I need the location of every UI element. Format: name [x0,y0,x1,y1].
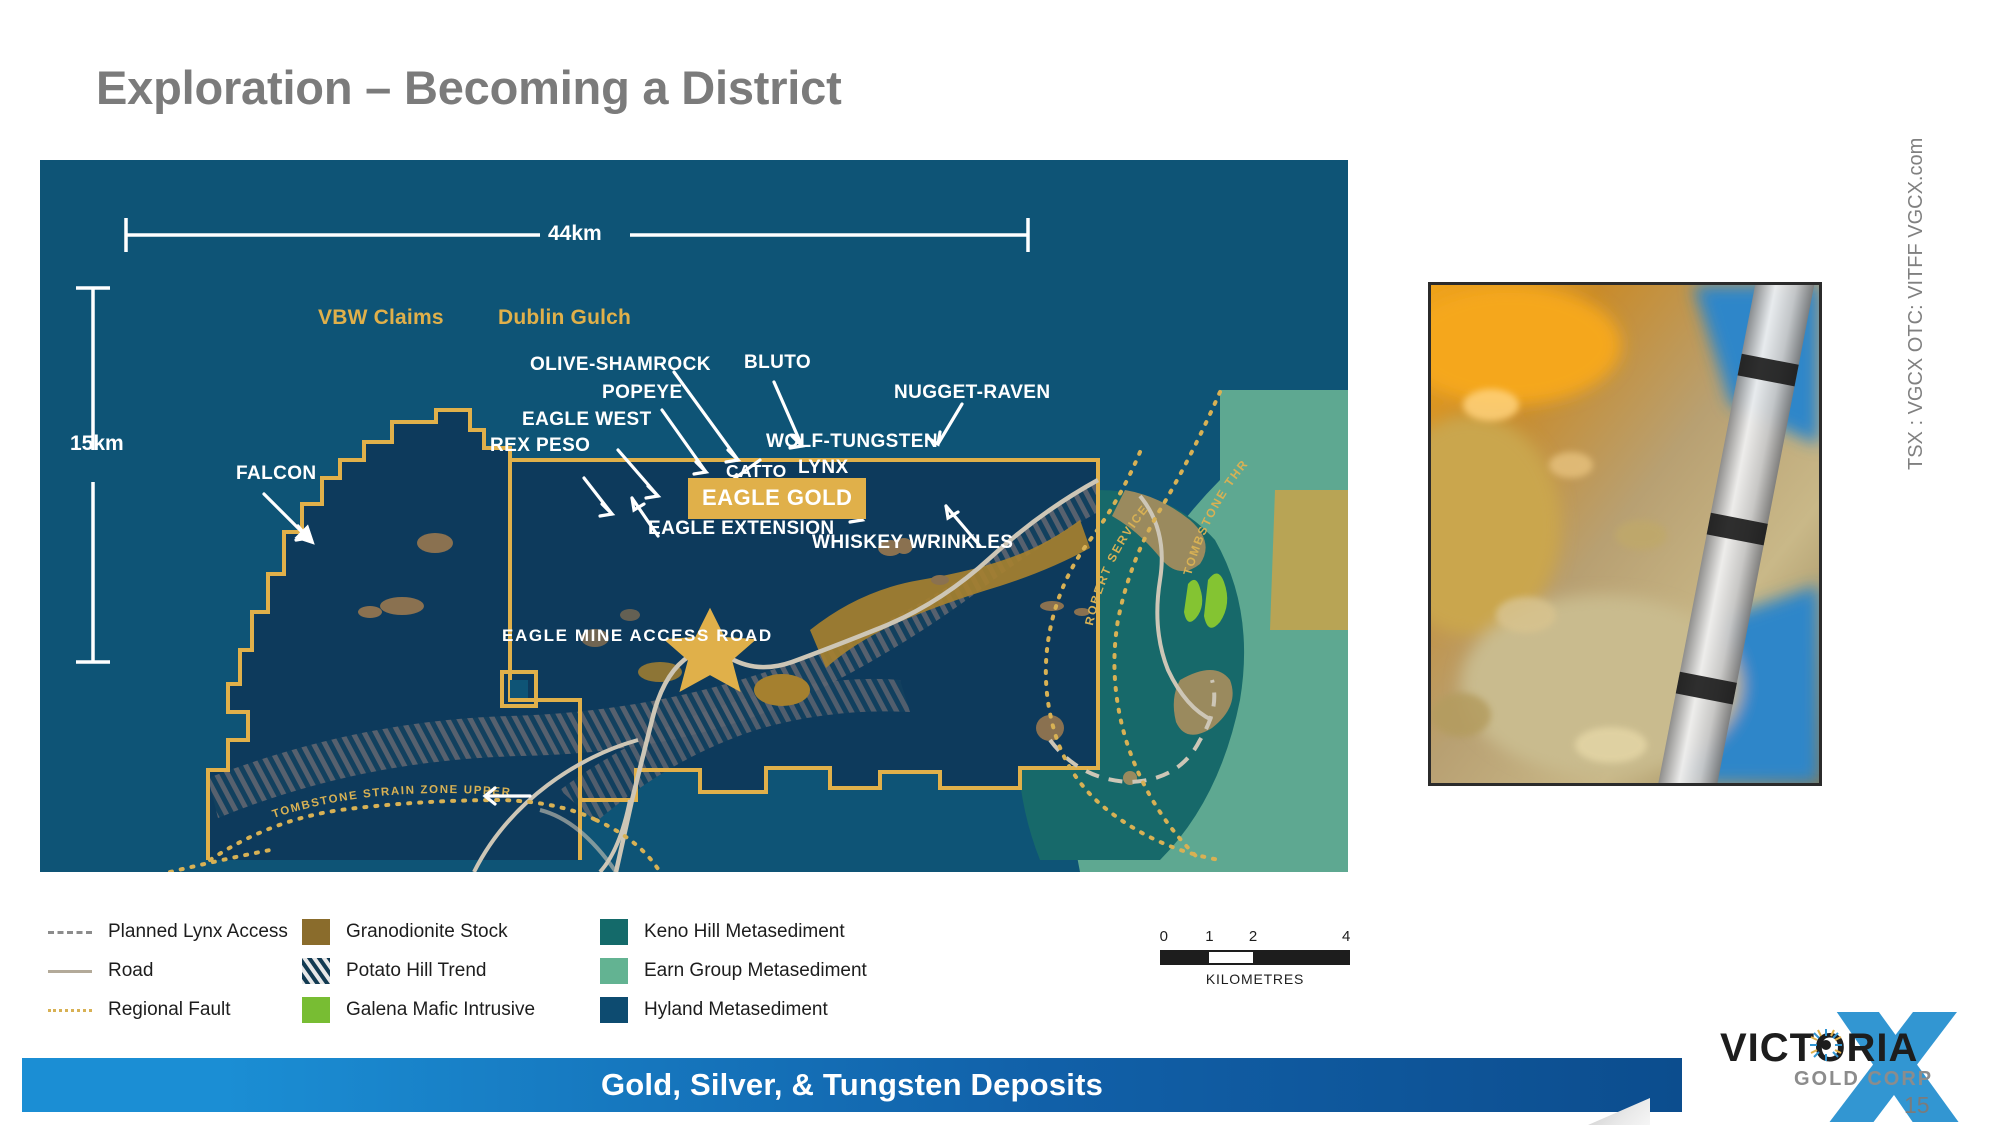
legend-label: Regional Fault [108,999,231,1021]
legend-label: Granodionite Stock [346,921,508,943]
access-road-label: EAGLE MINE ACCESS ROAD [502,626,773,646]
dotted-line-icon [48,1003,92,1017]
scale-tick: 0 [1160,928,1168,945]
legend-item: Hyland Metasediment [600,990,867,1029]
claim-label-dublin-gulch: Dublin Gulch [498,306,631,330]
banner-text: Gold, Silver, & Tungsten Deposits [601,1067,1103,1103]
legend-item: Potato Hill Trend [302,951,535,990]
deposit-label-wolf-tungsten: WOLF-TUNGSTEN [766,431,938,453]
legend-label: Keno Hill Metasediment [644,921,845,943]
deposit-label-popeye: POPEYE [602,382,683,404]
scale-bar-graphic [1160,950,1350,965]
scale-tick: 4 [1342,928,1350,945]
legend-label: Planned Lynx Access [108,921,288,943]
solid-line-icon [48,964,92,978]
hyland-swatch-icon [600,997,628,1023]
legend-item: Granodionite Stock [302,912,535,951]
deposit-label-olive-shamrock: OLIVE-SHAMROCK [530,354,711,376]
bottom-banner: Gold, Silver, & Tungsten Deposits [22,1058,1682,1112]
scale-tick: 1 [1205,928,1213,945]
scale-tick: 2 [1249,928,1257,945]
sunburst-icon [1809,1028,1843,1062]
deposit-label-falcon: FALCON [236,463,317,485]
deposit-label-eagle-extension: EAGLE EXTENSION [648,518,835,540]
core-sample-photo [1428,282,1822,786]
deposit-label-eagle-west: EAGLE WEST [522,409,652,431]
scale-ticks: 0 1 2 4 [1160,928,1350,948]
deposit-label-bluto: BLUTO [744,352,811,374]
legend-label: Hyland Metasediment [644,999,828,1021]
deposit-label-whiskey-wrinkles: WHISKEY WRINKLES [812,532,1013,554]
potato-hill-hatch-icon [302,958,330,984]
claim-label-vbw: VBW Claims [318,306,444,330]
company-logo: VICTORIA GOLD CORP 15 [1716,1012,1982,1122]
page-number: 15 [1904,1092,1930,1119]
deposit-label-rex-peso: REX PESO [490,435,590,457]
legend-item: Road [48,951,288,990]
keno-hill-swatch-icon [600,919,628,945]
deposit-label-nugget-raven: NUGGET-RAVEN [894,382,1050,404]
deposit-label-lynx: LYNX [798,457,849,479]
galena-swatch-icon [302,997,330,1023]
map-panel[interactable]: DUBLIN GULCH PROPERTY [40,160,1348,872]
legend-item: Earn Group Metasediment [600,951,867,990]
dashed-line-icon [48,925,92,939]
earn-group-swatch-icon [600,958,628,984]
dimension-height-label: 15km [70,432,124,456]
legend-label: Earn Group Metasediment [644,960,867,982]
slide-root: Exploration – Becoming a District DUBLIN… [0,0,2000,1125]
scale-bar: 0 1 2 4 KILOMETRES [1160,928,1350,987]
legend-item: Keno Hill Metasediment [600,912,867,951]
legend-item: Galena Mafic Intrusive [302,990,535,1029]
legend-column-lines: Planned Lynx Access Road Regional Fault [48,912,288,1029]
logo-subtext: GOLD CORP [1794,1068,1933,1091]
legend-item: Regional Fault [48,990,288,1029]
legend-label: Road [108,960,153,982]
legend-column-intrusives: Granodionite Stock Potato Hill Trend Gal… [302,912,535,1029]
dimension-width-label: 44km [548,222,602,246]
eagle-gold-badge[interactable]: EAGLE GOLD [688,478,866,519]
page-title: Exploration – Becoming a District [96,60,842,115]
granodiorite-swatch-icon [302,919,330,945]
legend-column-metasediments: Keno Hill Metasediment Earn Group Metase… [600,912,867,1029]
legend-label: Potato Hill Trend [346,960,486,982]
scale-unit-label: KILOMETRES [1160,971,1350,987]
legend-label: Galena Mafic Intrusive [346,999,535,1021]
ticker-text: TSX : VGCX OTC: VITFF VGCX.com [1905,138,1928,470]
legend-item: Planned Lynx Access [48,912,288,951]
